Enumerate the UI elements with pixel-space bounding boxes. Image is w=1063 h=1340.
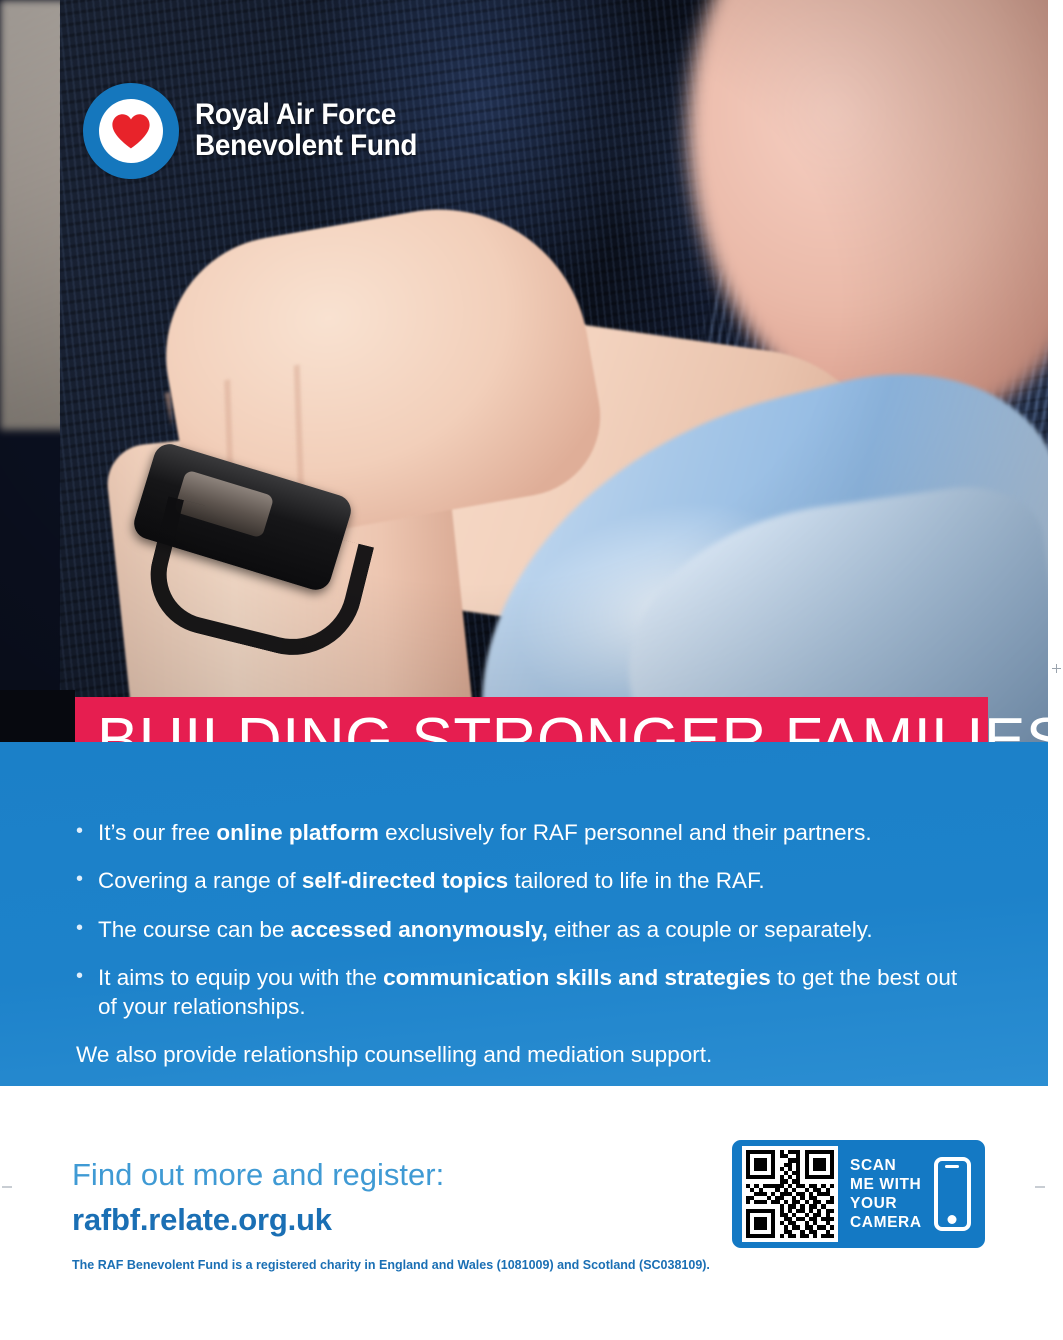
raf-roundel-icon bbox=[83, 83, 179, 179]
crop-mark-bottom-right bbox=[1035, 1186, 1045, 1188]
list-item: • It aims to equip you with the communic… bbox=[72, 963, 972, 1022]
scan-qr-badge[interactable]: SCAN ME WITH YOUR CAMERA bbox=[729, 1137, 988, 1251]
scan-line-1: SCAN bbox=[850, 1156, 922, 1175]
bullet-text-1: It’s our free online platform exclusivel… bbox=[98, 818, 872, 847]
scan-instruction-text: SCAN ME WITH YOUR CAMERA bbox=[850, 1156, 922, 1233]
qr-code-icon[interactable] bbox=[742, 1146, 838, 1242]
bullet-text-3: The course can be accessed anonymously, … bbox=[98, 915, 873, 944]
list-item: • Covering a range of self-directed topi… bbox=[72, 866, 972, 895]
bullet-dot-icon: • bbox=[72, 866, 98, 892]
qr-grid bbox=[746, 1150, 834, 1238]
cta-label: Find out more and register: bbox=[72, 1156, 444, 1193]
logo-line-2: Benevolent Fund bbox=[195, 131, 417, 162]
smartphone-icon bbox=[934, 1157, 971, 1231]
headline-left-shadow bbox=[0, 690, 75, 742]
crop-mark-bottom-left bbox=[2, 1186, 12, 1188]
bullet-dot-icon: • bbox=[72, 818, 98, 844]
bullet-text-4: It aims to equip you with the communicat… bbox=[98, 963, 972, 1022]
list-item: • It’s our free online platform exclusiv… bbox=[72, 818, 972, 847]
logo-line-1: Royal Air Force bbox=[195, 100, 417, 131]
closing-statement: We also provide relationship counselling… bbox=[72, 1040, 972, 1069]
raf-benevolent-fund-logo: Royal Air Force Benevolent Fund bbox=[83, 83, 434, 179]
feature-list: • It’s our free online platform exclusiv… bbox=[72, 818, 972, 1070]
crop-mark-right-v bbox=[1056, 664, 1057, 673]
scan-line-3: YOUR bbox=[850, 1194, 922, 1213]
logo-wordmark: Royal Air Force Benevolent Fund bbox=[195, 100, 417, 161]
list-item: • The course can be accessed anonymously… bbox=[72, 915, 972, 944]
scan-line-2: ME WITH bbox=[850, 1175, 922, 1194]
poster-page: Royal Air Force Benevolent Fund BUILDING… bbox=[0, 0, 1063, 1340]
heart-icon bbox=[111, 113, 151, 149]
features-panel: • It’s our free online platform exclusiv… bbox=[0, 742, 1048, 1086]
bullet-dot-icon: • bbox=[72, 963, 98, 989]
roundel-inner-circle bbox=[99, 99, 163, 163]
charity-registration-note: The RAF Benevolent Fund is a registered … bbox=[72, 1258, 710, 1272]
bullet-text-2: Covering a range of self-directed topics… bbox=[98, 866, 765, 895]
website-url-link[interactable]: rafbf.relate.org.uk bbox=[72, 1201, 444, 1240]
call-to-action: Find out more and register: rafbf.relate… bbox=[72, 1156, 444, 1240]
bullet-dot-icon: • bbox=[72, 915, 98, 941]
scan-line-4: CAMERA bbox=[850, 1213, 922, 1232]
